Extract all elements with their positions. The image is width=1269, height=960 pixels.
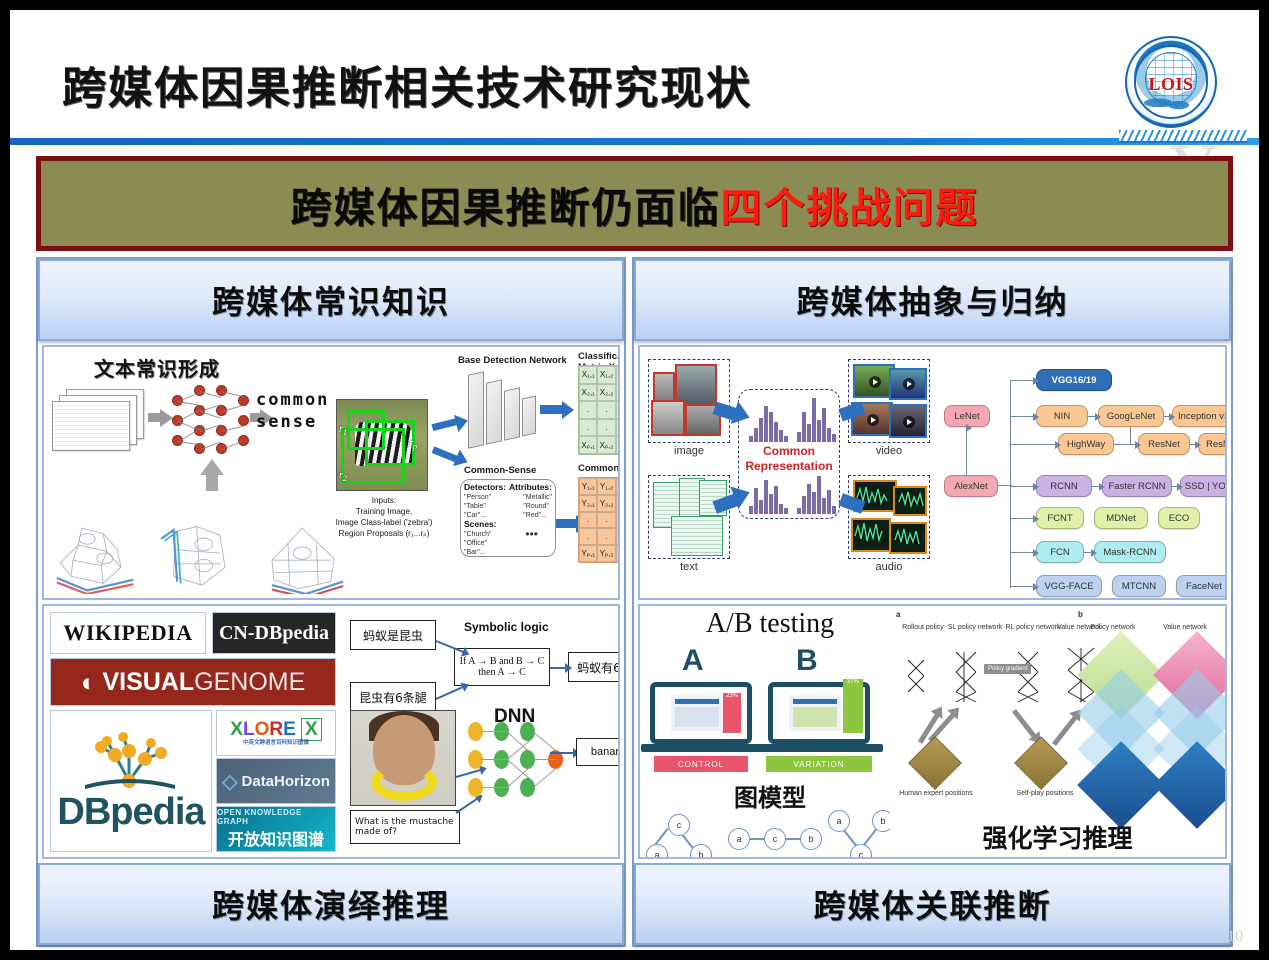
network-node-ssdyolo[interactable]: SSD | YOLO v2	[1180, 475, 1227, 497]
region-box-r2	[341, 428, 405, 484]
slide-canvas: Y Y 跨媒体因果推断相关技术研究现状 LOIS 跨媒体因果推断仍面临四个挑战问…	[10, 10, 1259, 950]
network-node-highway[interactable]: HighWay	[1058, 433, 1114, 455]
laptop-variation: 37%	[768, 682, 870, 744]
label-base-detection-network: Base Detection Network	[458, 355, 567, 366]
network-edge	[1088, 416, 1096, 417]
matrix-cell: —	[616, 495, 620, 512]
panel-abstraction: image text	[638, 345, 1227, 600]
label-human-expert-positions: Human expert positions	[890, 790, 982, 797]
common-representation-figure: image text	[640, 347, 940, 598]
mustache-image	[350, 710, 456, 806]
okg-chinese: 开放知识图谱	[228, 826, 324, 850]
graph-node: a	[646, 844, 668, 859]
document-stack-icon	[52, 389, 144, 451]
label-variant-a: A	[682, 644, 704, 678]
tag-control: CONTROL	[654, 756, 748, 772]
header-hatch-decoration	[1119, 130, 1247, 143]
network-edge	[966, 427, 967, 475]
matrix-cell: X₁,₂	[597, 366, 615, 384]
matrix-cell: —	[616, 478, 620, 495]
matrix-cell: .	[597, 401, 615, 419]
arrow-selfplay-to-value	[1052, 715, 1078, 746]
commonsense-matrix-y: Y₁,₁Y₁,₂—Y₁,CY₂,₁Y₂,₂—Y₂,C........Yₚ,₁Yₚ…	[578, 477, 620, 563]
attributes-title: Attributes:	[509, 482, 552, 492]
inputs-line-3: Image Class-label ('zebra')	[328, 517, 440, 528]
edge-premise2-rule	[436, 686, 464, 700]
network-edge	[1010, 380, 1011, 588]
network-node-mtcnn[interactable]: MTCNN	[1112, 575, 1166, 597]
inputs-line-4: Region Proposals (r₁...rₚ)	[328, 528, 440, 539]
network-edge	[1190, 444, 1196, 445]
network-node-rcnn[interactable]: RCNN	[1036, 475, 1092, 497]
3d-mesh-icon-2	[156, 514, 248, 594]
matrix-cell: .	[616, 528, 620, 545]
matrix-cell: .	[597, 512, 615, 529]
edge-question-dnn	[455, 798, 478, 814]
logo-wikipedia[interactable]: WIKIPEDIA	[50, 612, 206, 654]
network-edge	[1010, 518, 1034, 519]
matrix-cell: X₁,₁	[579, 366, 597, 384]
arrow-head-5	[562, 401, 574, 419]
attribute-3: "Red"...	[523, 511, 552, 520]
graph-node: a	[728, 828, 750, 850]
graph-tree-1: c a b	[644, 812, 724, 859]
ab-testing-figure: A/B testing A B 23% CONTROL 37% VARIATIO…	[640, 606, 900, 857]
graph-node: c	[668, 814, 690, 836]
scene-1: "Church"	[464, 530, 492, 539]
matrix-cell: Y₂,₁	[579, 495, 597, 512]
matrix-cell: Xₚ,₂	[597, 436, 615, 454]
network-node-maskrcnn[interactable]: Mask-RCNN	[1094, 541, 1166, 563]
dbpedia-wordmark: DBpedia	[57, 791, 204, 834]
header-label: 跨媒体常识知识	[212, 277, 450, 323]
matrix-cell: Yₚ,₁	[579, 545, 597, 562]
inputs-line-2: Training Image,	[328, 506, 440, 517]
network-edge	[1010, 380, 1034, 381]
matrix-cell: —	[616, 366, 620, 384]
neural-network-icon	[172, 383, 250, 455]
network-node-eco[interactable]: ECO	[1158, 507, 1200, 529]
network-edge	[1130, 427, 1131, 444]
network-node-vggface[interactable]: VGG-FACE	[1036, 575, 1102, 597]
question-box: What is the mustache made of?	[350, 810, 460, 844]
rule-line-2: then A → C	[478, 667, 526, 678]
network-edge	[1164, 416, 1170, 417]
premise-1-box: 蚂蚁是昆虫	[350, 620, 436, 650]
graph-node: b	[800, 828, 822, 850]
screen-variation	[789, 695, 841, 731]
edge-dnn-answer	[550, 752, 574, 754]
header-label: 跨媒体演绎推理	[212, 881, 450, 927]
network-node-fasterrcnn[interactable]: Faster RCNN	[1102, 475, 1172, 497]
arrow-to-matrix-x	[540, 405, 562, 414]
page-title: 跨媒体因果推断相关技术研究现状	[62, 52, 752, 116]
laptop-control: 23%	[650, 682, 752, 744]
attribute-2: "Round"	[523, 502, 552, 511]
vg-genome: GENOME	[194, 668, 305, 697]
network-edge	[1114, 444, 1136, 445]
wave-icon	[1139, 89, 1202, 112]
network-node-inception[interactable]: Inception v3/v4	[1172, 405, 1227, 427]
quadrant-right: 跨媒体抽象与归纳 image	[632, 257, 1233, 947]
banner-text-red: 四个挑战问题	[721, 174, 979, 234]
label-audio: audio	[848, 561, 930, 573]
control-percent: 23%	[723, 693, 741, 733]
caption-reinforcement-learning: 强化学习推理	[890, 819, 1225, 855]
matrix-cell: .	[597, 419, 615, 437]
left-panels: 文本常识形成	[42, 345, 620, 859]
label-policy-network-b: Policy network	[1082, 624, 1144, 631]
detector-1: "Person"	[464, 493, 491, 502]
3d-mesh-icon-1	[50, 514, 142, 594]
network-edge	[1084, 552, 1092, 553]
logo-datahorizon[interactable]: ◇DataHorizon	[216, 758, 336, 804]
go-board-expert	[908, 736, 962, 790]
detection-figure: r1 rp r2 Inputs: Training Image, Image C…	[328, 347, 618, 598]
network-node-mdnet[interactable]: MDNet	[1094, 507, 1148, 529]
vg-visual: VISUAL	[102, 668, 194, 697]
arrow-to-matrix-y	[556, 519, 576, 528]
network-node-vgg[interactable]: VGG16/19	[1036, 369, 1112, 391]
graph-node: b	[690, 844, 712, 859]
banner-text-black: 跨媒体因果推断仍面临	[291, 174, 721, 234]
answer-box: bananas	[576, 738, 620, 766]
network-node-facenet[interactable]: FaceNet	[1176, 575, 1227, 597]
panel-association-inference: A/B testing A B 23% CONTROL 37% VARIATIO…	[638, 604, 1227, 859]
label-text: text	[648, 561, 730, 573]
graph-collider-3: a b c	[826, 806, 900, 859]
network-node-fcnt[interactable]: FCNT	[1036, 507, 1084, 529]
matrix-cell: X₂,₁	[579, 384, 597, 402]
ab-testing-title: A/B testing	[640, 608, 900, 640]
label-video: video	[848, 445, 930, 457]
scene-3: "Bar"...	[464, 548, 492, 557]
panel-text-commonsense: 文本常识形成	[42, 345, 620, 600]
label-value-network-b: Value network	[1158, 624, 1212, 631]
datahorizon-label: DataHorizon	[242, 773, 330, 790]
policy-gradient-pill: Policy gradient	[984, 664, 1031, 674]
text-group-box	[648, 475, 730, 559]
matrix-cell: —	[616, 384, 620, 402]
word-sense: sense	[256, 411, 329, 433]
graph-chain-2: a c b	[728, 826, 824, 856]
logo-cn-dbpedia[interactable]: CN-DBpedia	[212, 612, 336, 654]
matrix-cell: Yₚ,₂	[597, 545, 615, 562]
panel-title-text-commonsense: 文本常识形成	[94, 353, 220, 382]
classification-matrix-x: X₁,₁X₁,₂—X₁,CX₂,₁X₂,₂—X₂,C........Xₚ,₁Xₚ…	[578, 365, 620, 455]
header-cross-media-association: 跨媒体关联推断	[634, 863, 1231, 945]
page-number: 10	[1227, 928, 1243, 946]
word-common: common	[256, 389, 329, 411]
matrix-cell: X₂,₂	[597, 384, 615, 402]
up-arrow-icon	[200, 459, 224, 475]
label-variant-b: B	[796, 644, 818, 678]
matrix-cell: Y₁,₁	[579, 478, 597, 495]
common-sense-wordmark: common sense	[256, 389, 329, 433]
label-image: image	[648, 445, 730, 457]
common-representation-box: Common Representation	[738, 389, 840, 519]
inputs-caption: Inputs: Training Image, Image Class-labe…	[328, 495, 440, 539]
dbpedia-mark-icon	[71, 729, 191, 791]
xlore-subtitle: 中英文跨语言百科知识图谱	[230, 741, 321, 747]
matrix-cell: .	[616, 419, 620, 437]
matrix-cell: Xₚ,₁	[579, 436, 597, 454]
label-common-sense: Common-Sense	[464, 465, 536, 476]
slide-header: 跨媒体因果推断相关技术研究现状 LOIS	[10, 10, 1259, 138]
network-node-nin[interactable]: NIN	[1036, 405, 1088, 427]
rule-line-1: If A → B and B → C	[460, 656, 545, 667]
matrix-cell: .	[597, 528, 615, 545]
right-panels: image text	[638, 345, 1227, 859]
edge-rule-conclusion	[550, 667, 566, 669]
quadrant-left: 跨媒体常识知识 文本常识形成	[36, 257, 626, 947]
network-edge	[1092, 486, 1100, 487]
logo-xlore[interactable]: XLORE X 中英文跨语言百科知识图谱	[216, 710, 336, 756]
network-node-alexnet[interactable]: AlexNet	[944, 475, 998, 497]
arrow-rl-to-selfplay	[1012, 709, 1037, 739]
scene-2: "Office"	[464, 539, 492, 548]
network-node-resnext[interactable]: ResNeXt	[1198, 433, 1227, 455]
matrix-cell: .	[579, 512, 597, 529]
matrix-cell: .	[616, 512, 620, 529]
network-node-fcn[interactable]: FCN	[1036, 541, 1084, 563]
header-divider	[10, 138, 1259, 145]
scenes-title: Scenes:	[464, 519, 497, 529]
attribute-1: "Metallic"	[523, 493, 552, 502]
conclusion-box: 蚂蚁有6条腿	[568, 652, 620, 682]
label-symbolic-logic: Symbolic logic	[464, 620, 549, 634]
graph-node: c	[850, 844, 872, 859]
label-self-play-positions: Self-play positions	[1000, 790, 1090, 797]
logo-open-knowledge-graph[interactable]: OPEN KNOWLEDGE GRAPH 开放知识图谱	[216, 806, 336, 852]
lois-logo: LOIS	[1125, 36, 1217, 128]
network-edge	[1172, 486, 1178, 487]
header-label: 跨媒体抽象与归纳	[796, 277, 1068, 323]
matrix-cell: .	[579, 528, 597, 545]
symbolic-logic-figure: 蚂蚁是昆虫 昆虫有6条腿 Symbolic logic If A → B and…	[344, 606, 618, 857]
graph-node: c	[764, 828, 786, 850]
network-edge	[1010, 586, 1034, 587]
graph-node: a	[828, 810, 850, 832]
matrix-cell: —	[616, 545, 620, 562]
matrix-cell: Y₁,₂	[597, 478, 615, 495]
header-label: 跨媒体关联推断	[813, 881, 1051, 927]
network-edge	[1010, 444, 1056, 445]
audio-group-box	[848, 475, 930, 559]
detectors-title: Detectors:	[464, 482, 506, 492]
network-architecture-tree: LeNetAlexNetVGG16/19NINGoogLeNetInceptio…	[940, 347, 1225, 598]
label-sl-policy-network: SL policy network	[944, 624, 1006, 631]
matrix-cell: Y₂,₂	[597, 495, 615, 512]
premise-2-box: 昆虫有6条腿	[350, 682, 436, 712]
screen-control	[671, 695, 723, 731]
crep-line-1: Common	[739, 444, 839, 459]
zebra-image: r1 rp r2	[336, 399, 428, 491]
go-board-selfplay	[1014, 736, 1068, 790]
detector-2: "Table"	[464, 502, 491, 511]
subfigure-b-label: b	[1078, 610, 1083, 619]
logo-dbpedia[interactable]: DBpedia	[50, 710, 212, 852]
inputs-line-1: Inputs:	[328, 495, 440, 506]
reinforcement-learning-figure: a b Rollout policy SL policy network RL …	[890, 606, 1225, 857]
network-node-resnet[interactable]: ResNet	[1138, 433, 1190, 455]
network-edge	[1010, 416, 1034, 417]
tag-variation: VARIATION	[766, 756, 872, 772]
logo-visual-genome[interactable]: ◐VISUALGENOME	[50, 658, 336, 706]
network-node-googlenet[interactable]: GoogLeNet	[1098, 405, 1164, 427]
matrix-cell: —	[616, 436, 620, 454]
network-edge	[1010, 486, 1034, 487]
subfigure-a-label: a	[896, 610, 900, 619]
network-edge	[1010, 552, 1034, 553]
matrix-cell: .	[616, 401, 620, 419]
edge-premise1-rule	[436, 640, 465, 653]
challenge-banner: 跨媒体因果推断仍面临四个挑战问题	[36, 156, 1233, 251]
header-cross-media-commonsense: 跨媒体常识知识	[38, 259, 624, 341]
header-cross-media-abstraction: 跨媒体抽象与归纳	[634, 259, 1231, 341]
label-rollout-policy: Rollout policy	[896, 624, 950, 631]
matrix-cell: .	[579, 419, 597, 437]
matrix-cell: .	[579, 401, 597, 419]
arrow-docs-to-net	[148, 413, 160, 422]
panel-knowledge-and-logic: WIKIPEDIA CN-DBpedia ◐VISUALGENOME	[42, 604, 620, 859]
crep-line-2: Representation	[739, 459, 839, 474]
dnn-network-icon	[468, 722, 564, 798]
header-cross-media-deduction: 跨媒体演绎推理	[38, 863, 624, 945]
variation-percent: 37%	[843, 679, 863, 733]
commonsense-detectors-box: Detectors: Attributes: "Person" "Table" …	[460, 479, 556, 557]
okg-english: OPEN KNOWLEDGE GRAPH	[217, 808, 335, 826]
